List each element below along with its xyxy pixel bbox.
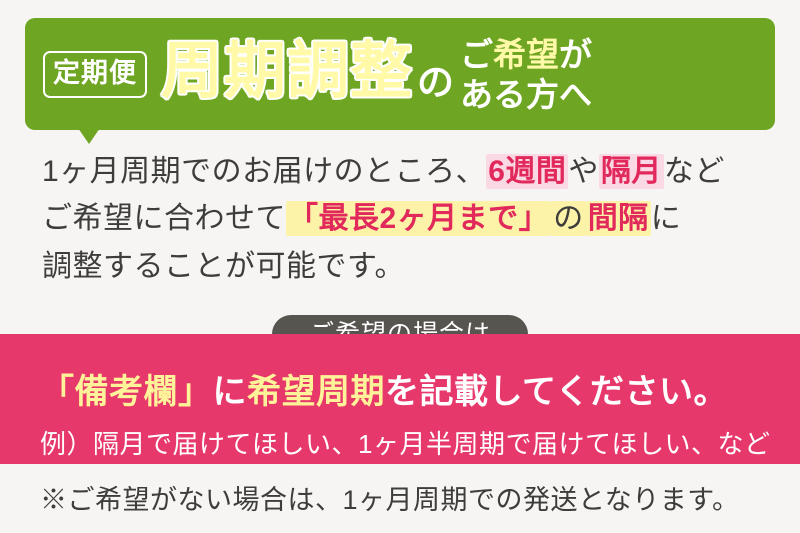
banner-sub-b: 希望 [493, 36, 559, 73]
footer-note: ※ご希望がない場合は、1ヶ月周期での発送となります。 [40, 478, 780, 517]
banner-headline: 周期調整 [161, 41, 413, 107]
instruction-headline: 「備考欄」に希望周期を記載してください。 [40, 364, 780, 413]
instruction-example: 例）隔月で届けてほしい、1ヶ月半周期で届けてほしい、など [40, 424, 780, 461]
desc-1a: 1ヶ月周期でのお届けのところ、 [42, 155, 486, 188]
promo-panel: 定期便 周期調整 の ご希望が ある方へ 1ヶ月周期でのお届けのところ、6週間や… [0, 0, 800, 533]
description-line-3: 調整することが可能です。 [42, 243, 772, 290]
desc-2b: 「最長2ヶ月まで」 [286, 201, 551, 236]
banner-particle: の [417, 64, 454, 101]
instruction-field-name: 「備考欄」 [40, 373, 213, 411]
desc-1b: 6週間 [486, 154, 568, 189]
banner-sub-a: ご [460, 36, 493, 73]
banner-subheadline: ご希望が ある方へ [460, 35, 592, 116]
header-banner: 定期便 周期調整 の ご希望が ある方へ [25, 18, 775, 130]
instruction-d: を記載してください。 [385, 373, 728, 411]
instruction-b: に [213, 373, 248, 411]
desc-2a: ご希望に合わせて [42, 202, 286, 235]
desc-2c: の [551, 201, 586, 236]
desc-2e: に [651, 202, 682, 235]
desc-1d: 隔月 [599, 154, 664, 189]
banner-sub-c: が [559, 36, 592, 73]
desc-1e: など [664, 155, 725, 188]
description-paragraph: 1ヶ月周期でのお届けのところ、6週間や隔月など ご希望に合わせて「最長2ヶ月まで… [42, 148, 772, 290]
banner-subheadline-line2: ある方へ [460, 75, 592, 115]
banner-subheadline-line1: ご希望が [460, 35, 592, 75]
desc-2d: 間隔 [586, 201, 651, 236]
desc-1c: や [568, 155, 599, 188]
banner-pointer-icon [78, 128, 100, 144]
description-line-2: ご希望に合わせて「最長2ヶ月まで」の間隔に [42, 195, 772, 242]
description-line-1: 1ヶ月周期でのお届けのところ、6週間や隔月など [42, 148, 772, 195]
instruction-keyword: 希望周期 [247, 373, 385, 411]
subscription-badge: 定期便 [43, 51, 147, 98]
